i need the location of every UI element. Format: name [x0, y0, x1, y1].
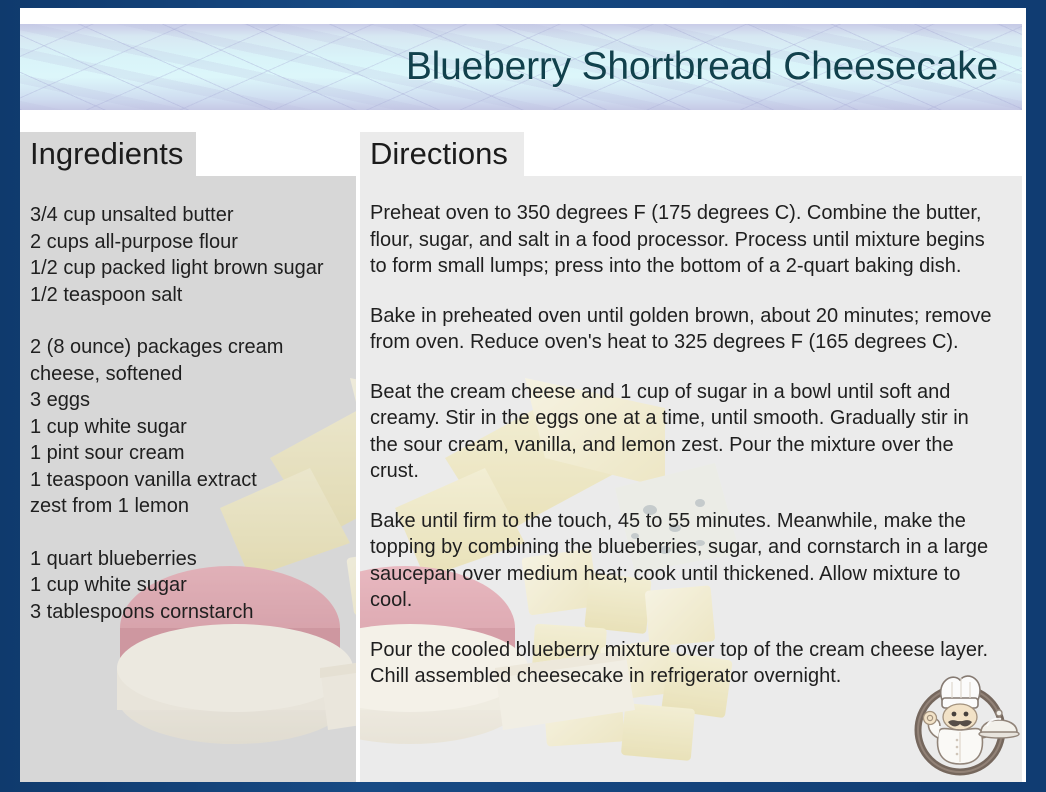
- ingredients-list: 3/4 cup unsalted butter 2 cups all-purpo…: [20, 176, 356, 625]
- list-item: zest from 1 lemon: [30, 493, 342, 520]
- title-banner: Blueberry Shortbread Cheesecake: [20, 24, 1022, 110]
- directions-heading: Directions: [360, 132, 524, 176]
- list-item: 1/2 teaspoon salt: [30, 282, 342, 309]
- list-item: 2 (8 ounce) packages cream: [30, 334, 342, 361]
- group-spacer: [30, 308, 342, 334]
- group-spacer: [30, 520, 342, 546]
- direction-step: Bake until firm to the touch, 45 to 55 m…: [370, 508, 1000, 614]
- list-item: 1 cup white sugar: [30, 572, 342, 599]
- list-item: 1 pint sour cream: [30, 440, 342, 467]
- ingredients-heading: Ingredients: [20, 132, 196, 176]
- directions-steps: Preheat oven to 350 degrees F (175 degre…: [360, 176, 1022, 690]
- ingredients-heading-label: Ingredients: [20, 136, 183, 172]
- direction-step: Preheat oven to 350 degrees F (175 degre…: [370, 200, 1000, 280]
- recipe-card: Blueberry Shortbread Cheesecake Ingredie…: [0, 0, 1046, 792]
- direction-step: Bake in preheated oven until golden brow…: [370, 303, 1000, 356]
- chef-logo-icon: [904, 668, 1020, 780]
- list-item: 2 cups all-purpose flour: [30, 229, 342, 256]
- list-item: 3 eggs: [30, 387, 342, 414]
- list-item: 3 tablespoons cornstarch: [30, 599, 342, 626]
- ingredient-group: 2 (8 ounce) packages cream cheese, softe…: [30, 334, 342, 520]
- list-item: 1 quart blueberries: [30, 546, 342, 573]
- list-item: cheese, softened: [30, 361, 342, 388]
- recipe-page: Blueberry Shortbread Cheesecake Ingredie…: [20, 8, 1026, 782]
- directions-heading-label: Directions: [360, 136, 508, 172]
- ingredient-group: 3/4 cup unsalted butter 2 cups all-purpo…: [30, 202, 342, 308]
- ingredient-group: 1 quart blueberries 1 cup white sugar 3 …: [30, 546, 342, 626]
- ingredients-panel: 3/4 cup unsalted butter 2 cups all-purpo…: [20, 176, 356, 782]
- list-item: 3/4 cup unsalted butter: [30, 202, 342, 229]
- direction-step: Beat the cream cheese and 1 cup of sugar…: [370, 379, 1000, 485]
- page-title: Blueberry Shortbread Cheesecake: [406, 45, 1022, 89]
- list-item: 1 cup white sugar: [30, 414, 342, 441]
- list-item: 1/2 cup packed light brown sugar: [30, 255, 342, 282]
- list-item: 1 teaspoon vanilla extract: [30, 467, 342, 494]
